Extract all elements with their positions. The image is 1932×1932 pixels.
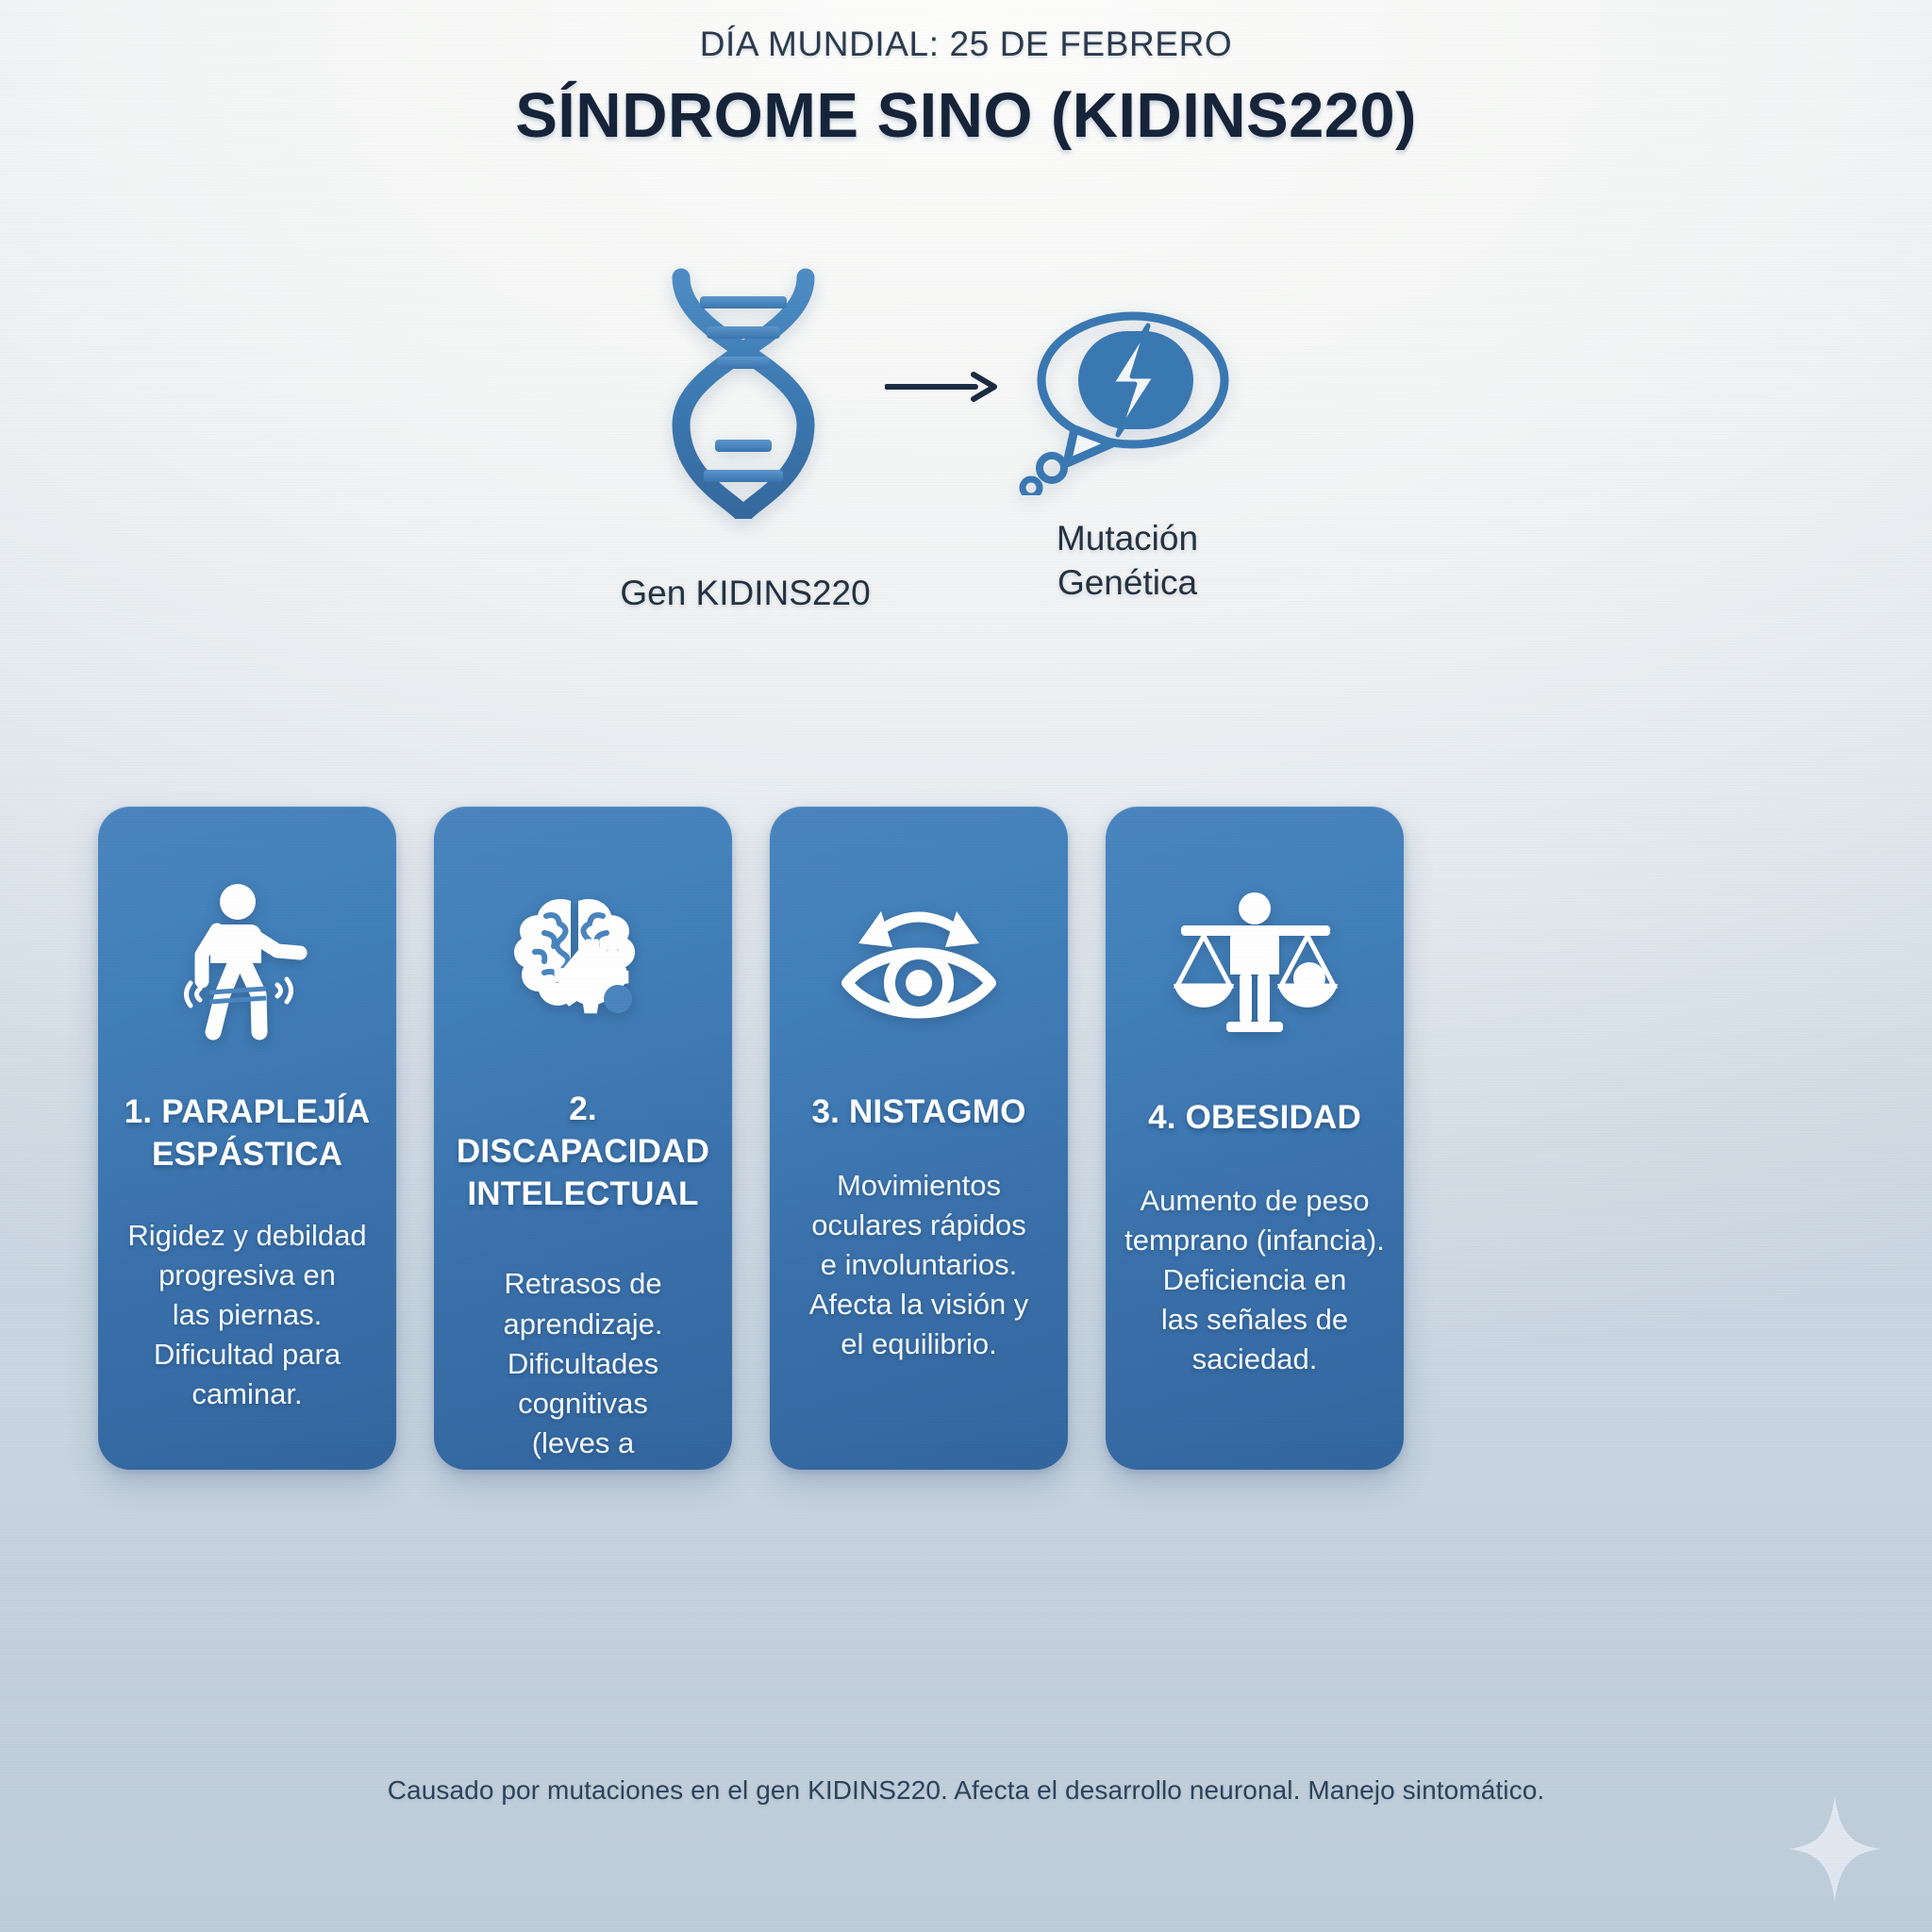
dna-helix-icon (649, 264, 838, 519)
card-body: Aumento de peso temprano (infancia). Def… (1124, 1181, 1385, 1380)
walking-person-stiff-legs-icon (172, 884, 323, 1042)
symptom-card-discapacidad-intelectual[interactable]: 2. DISCAPACIDAD INTELECTUAL Retrasos de … (434, 807, 732, 1470)
card-title: 3. NISTAGMO (811, 1091, 1025, 1134)
gene-diagram: Gen KIDINS220 Mutación Genética (0, 264, 1932, 547)
card-title: 4. OBESIDAD (1148, 1097, 1361, 1140)
kicker-text: DÍA MUNDIAL: 25 DE FEBRERO (0, 25, 1932, 64)
balance-scale-person-icon (1168, 884, 1342, 1042)
gene-label: Gen KIDINS220 (585, 574, 906, 613)
card-title: 2. DISCAPACIDAD INTELECTUAL (451, 1089, 715, 1215)
card-title: 1. PARAPLEJÍA ESPÁSTICA (115, 1091, 379, 1176)
mutation-label: Mutación Genética (1009, 517, 1245, 605)
right-arrow-icon (885, 368, 998, 406)
thought-bubble-lightning-icon (1014, 297, 1231, 495)
card-body: Retrasos de aprendizaje. Dificultades co… (451, 1264, 715, 1470)
symptom-cards: 1. PARAPLEJÍA ESPÁSTICA Rigidez y debild… (98, 807, 1834, 1470)
four-point-star-sparkle-icon (1783, 1792, 1887, 1906)
symptom-card-paraplejia[interactable]: 1. PARAPLEJÍA ESPÁSTICA Rigidez y debild… (98, 807, 396, 1470)
card-body: Rigidez y debildad progresiva en las pie… (127, 1216, 366, 1415)
brain-gear-icon (503, 884, 663, 1040)
eye-nystagmus-arrow-icon (834, 884, 1004, 1042)
symptom-card-obesidad[interactable]: 4. OBESIDAD Aumento de peso temprano (in… (1106, 807, 1404, 1470)
symptom-card-nistagmo[interactable]: 3. NISTAGMO Movimientos oculares rápidos… (770, 807, 1068, 1470)
header: DÍA MUNDIAL: 25 DE FEBRERO SÍNDROME SINO… (0, 25, 1932, 152)
footer-note: Causado por mutaciones en el gen KIDINS2… (0, 1775, 1932, 1806)
card-body: Movimientos oculares rápidos e involunta… (809, 1166, 1029, 1365)
infographic-page: DÍA MUNDIAL: 25 DE FEBRERO SÍNDROME SINO… (0, 0, 1932, 1932)
page-title: SÍNDROME SINO (KIDINS220) (0, 79, 1932, 152)
